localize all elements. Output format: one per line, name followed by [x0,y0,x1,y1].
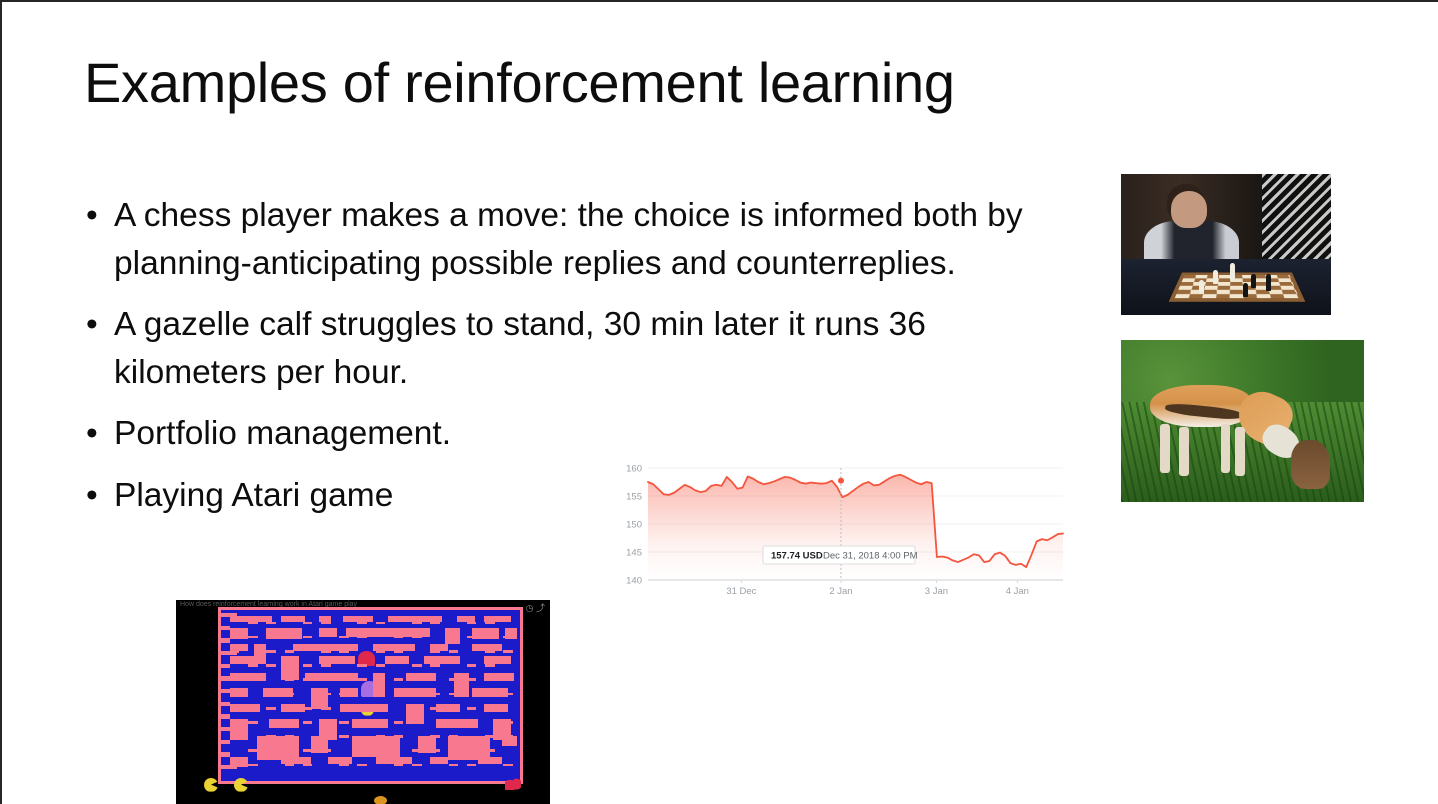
maze-pellet [266,650,276,653]
maze-wall [281,704,305,713]
y-axis-tick-label: 150 [626,520,642,531]
maze-wall [305,673,359,682]
maze-score-bar [221,638,231,642]
maze-wall [319,656,355,665]
maze-pellet [339,636,349,639]
list-item: • A gazelle calf struggles to stand, 30 … [84,301,1084,396]
maze-score-bar [221,752,231,756]
maze-pellet [485,650,495,653]
chess-piece [1266,274,1271,291]
maze-wall [484,656,511,665]
maze-pellet [266,693,276,696]
chess-piece [1213,270,1218,284]
gazelle-leg [1179,427,1189,476]
chess-piece [1230,263,1235,281]
tooltip-datetime: Dec 31, 2018 4:00 PM [823,551,918,562]
chess-board [1168,272,1305,302]
maze-pellet [357,636,367,639]
maze-pellet [376,693,386,696]
x-axis-tick-label: 2 Jan [829,586,852,597]
bullet-icon: • [86,301,98,349]
maze-pellet [394,721,404,724]
maze-pellet [303,764,313,767]
maze-pellet [266,664,276,667]
gazelle-leg [1221,424,1231,473]
maze-pellet [357,707,367,710]
maze-pellet [485,707,495,710]
y-axis-tick-label: 140 [626,576,642,587]
maze-pellet [321,650,331,653]
maze-pellet [248,636,258,639]
maze-pellet [303,636,313,639]
maze-pellet [485,735,495,738]
list-item: • A chess player makes a move: the choic… [84,192,1084,287]
share-icon: ⤴ [536,603,545,613]
maze-pellet [485,693,495,696]
gazelle-calf [1291,440,1330,489]
maze-pellet [449,764,459,767]
maze-pellet [266,622,276,625]
maze-pellet [339,678,349,681]
maze-pellet [412,636,422,639]
page-title: Examples of reinforcement learning [84,50,1204,116]
list-item: • Portfolio management. [84,410,1084,458]
maze-pellet [503,650,513,653]
maze-pellet [485,664,495,667]
maze-pellet [321,664,331,667]
maze-pellet [266,707,276,710]
maze-wall [376,757,412,764]
maze-pellet [230,636,240,639]
maze-wall [385,656,409,665]
y-axis-tick-label: 155 [626,492,642,503]
maze-pellet [230,735,240,738]
maze-pellet [430,664,440,667]
maze-pellet [503,678,513,681]
maze-wall [230,656,260,665]
maze-wall [319,628,337,637]
maze-pellet [248,664,258,667]
maze-pellet [503,721,513,724]
chess-piece [1199,280,1204,294]
bullet-icon: • [86,410,98,458]
chess-piece [1251,274,1256,288]
maze-pellet [467,749,477,752]
list-item-text: A chess player makes a move: the choice … [114,192,1084,287]
maze-pellet [303,721,313,724]
maze-pellet [394,735,404,738]
maze-pellet [430,622,440,625]
maze-pellet [248,764,258,767]
maze-score-bar [221,664,231,668]
maze-pellet [285,764,295,767]
maze-pellet [503,693,513,696]
maze-pellet [467,764,477,767]
cherry-icon [505,776,521,790]
bullet-icon: • [86,472,98,520]
maze-pellet [339,764,349,767]
maze-pellet [394,764,404,767]
maze-pellet [412,749,422,752]
maze-pellet [376,707,386,710]
maze-pellet [412,622,422,625]
maze-pellet [503,764,513,767]
maze-pellet [303,749,313,752]
maze-pellet [321,749,331,752]
chart-x-axis-labels: 31 Dec2 Jan3 Jan4 Jan [726,580,1029,597]
maze-wall [281,616,305,621]
maze-score-bar [221,702,231,706]
maze-pellet [503,735,513,738]
maze-pellet [449,636,459,639]
maze-pellet [266,735,276,738]
maze-pellet [394,636,404,639]
maze-pellet [285,735,295,738]
maze-pellet [248,622,258,625]
chess-player-head [1171,191,1207,228]
maze-pellet [321,622,331,625]
maze-pellet [430,735,440,738]
maze-pellet [412,707,422,710]
maze-pellet [303,622,313,625]
maze-pellet [376,622,386,625]
maze-pellet [449,721,459,724]
maze-pellet [394,678,404,681]
maze-wall [281,757,311,764]
maze-pellet [357,678,367,681]
maze-pellet [412,678,422,681]
maze-pellet [467,622,477,625]
maze-score-bar [221,689,237,693]
presentation-slide: Examples of reinforcement learning • A c… [0,0,1438,804]
chart-y-axis-labels: 140145150155160 [626,464,642,587]
maze-score-bar [221,651,237,655]
maze-pellet [285,721,295,724]
maze-score-bar [221,613,237,617]
maze-pellet [376,749,386,752]
maze-pellet [430,693,440,696]
maze-pellet [357,664,367,667]
maze-pellet [357,749,367,752]
maze-pellet [412,721,422,724]
maze-pellet [248,749,258,752]
maze-pellet [467,636,477,639]
maze-pellet [449,678,459,681]
maze-pellet [339,735,349,738]
maze-pellet [230,678,240,681]
maze-pellet [412,664,422,667]
maze-score-bar [221,676,231,680]
maze-pellet [449,693,459,696]
maze-score-bar [221,727,237,731]
maze-score-bar [221,765,237,769]
maze-pellet [430,749,440,752]
maze-wall [311,688,329,709]
x-axis-tick-label: 4 Jan [1006,586,1029,597]
maze-pellet [449,650,459,653]
maze-pellet [285,650,295,653]
atari-game-screenshot: How does reinforcement learning work in … [176,600,550,804]
maze-pellet [285,693,295,696]
x-axis-tick-label: 31 Dec [726,586,756,597]
chart-canvas: 140145150155160 31 Dec2 Jan3 Jan4 Jan 15… [614,460,1069,610]
list-item-text: A gazelle calf struggles to stand, 30 mi… [114,301,1084,396]
maze-pellet [485,749,495,752]
maze-pellet [230,721,240,724]
maze-pellet [357,721,367,724]
x-axis-tick-label: 3 Jan [925,586,948,597]
maze-pellet [339,650,349,653]
chess-piece [1243,283,1248,297]
maze-pellet [449,735,459,738]
maze-pellet [467,707,477,710]
maze-wall [478,757,502,764]
maze-pellet [430,650,440,653]
maze-pellet [357,622,367,625]
maze-pellet [339,721,349,724]
maze-pellet [394,693,404,696]
maze-score-bar [221,740,231,744]
tooltip-value: 157.74 USD [771,551,823,562]
chess-player-photo [1121,174,1331,315]
maze-pellet [412,764,422,767]
maze-pellet [321,735,331,738]
maze-score-bar [221,626,231,630]
maze-pellet [321,693,331,696]
y-axis-tick-label: 145 [626,548,642,559]
maze-pellet [376,650,386,653]
stock-price-chart: 140145150155160 31 Dec2 Jan3 Jan4 Jan 15… [614,460,1069,610]
maze-pellet [248,707,258,710]
chart-tooltip: 157.74 USD Dec 31, 2018 4:00 PM [763,546,918,564]
chart-data-marker [838,478,844,484]
maze-pellet [394,650,404,653]
fruit-pellet-icon [374,796,387,804]
maze-pellet [467,721,477,724]
y-axis-tick-label: 160 [626,464,642,475]
maze-wall [352,736,400,757]
maze-wall [424,656,460,665]
maze-pellet [248,678,258,681]
maze-pellet [303,678,313,681]
maze-pellet [303,664,313,667]
maze-wall [328,757,352,764]
maze-pellet [339,693,349,696]
maze-pellet [376,735,386,738]
gazelle-leg [1160,424,1170,473]
maze-pellet [303,707,313,710]
maze-pellet [321,707,331,710]
maze-pellet [430,707,440,710]
atari-topbar-icons: ◷ ⤴ [526,601,545,614]
atari-maze [218,607,523,784]
maze-pellet [285,678,295,681]
list-item-text: Portfolio management. [114,410,1084,458]
gazelle-photo [1121,340,1364,502]
maze-pellet [357,764,367,767]
maze-score-bar [221,714,231,718]
gazelle-leg [1235,427,1245,476]
maze-pellet [467,664,477,667]
clock-icon: ◷ [526,603,534,613]
maze-pellet [485,622,495,625]
maze-pellet [285,636,295,639]
maze-pellet [503,636,513,639]
maze-pellet [248,721,258,724]
maze-wall [430,757,448,764]
maze-pellet [266,749,276,752]
maze-pellet [467,678,477,681]
maze-wall [281,656,299,680]
bullet-icon: • [86,192,98,240]
maze-pellet [376,664,386,667]
